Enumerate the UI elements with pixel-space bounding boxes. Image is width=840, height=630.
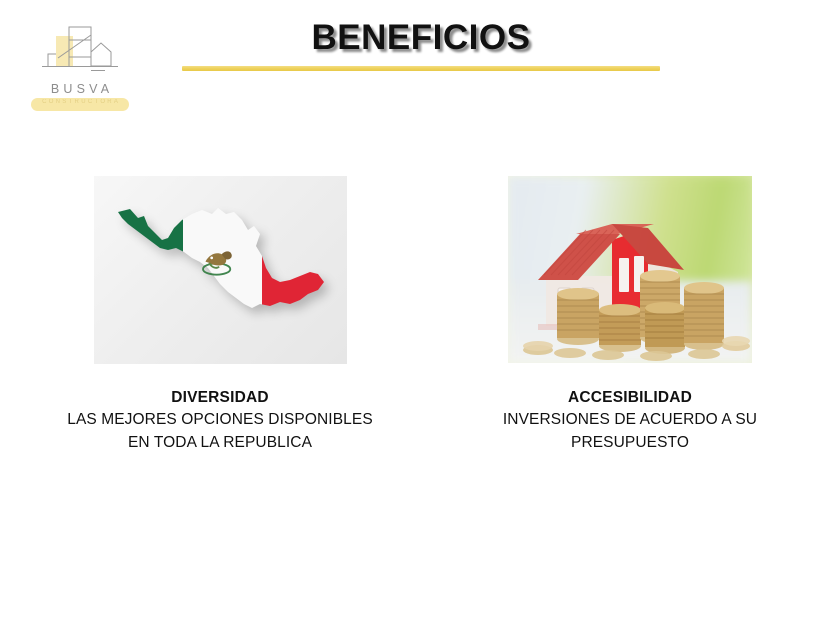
house-with-coin-stacks-photo	[508, 176, 752, 363]
caption-accesibilidad: ACCESIBILIDAD INVERSIONES DE ACUERDO A S…	[440, 387, 820, 454]
benefit-column-accesibilidad	[440, 176, 820, 363]
photo-subjects	[508, 176, 752, 363]
caption-body-line-1: INVERSIONES DE ACUERDO A SU	[440, 409, 820, 431]
brand-logo: BUSVA CONSTRUCTORA	[22, 24, 138, 119]
mexico-map-shape	[104, 196, 340, 346]
mexico-map-flag-photo	[94, 176, 347, 364]
caption-diversidad: DIVERSIDAD LAS MEJORES OPCIONES DISPONIB…	[8, 387, 432, 454]
slide-canvas: BUSVA CONSTRUCTORA BENEFICIOS	[0, 0, 840, 630]
logo-tagline: CONSTRUCTORA	[22, 99, 138, 105]
caption-body-line-2: PRESUPUESTO	[440, 432, 820, 454]
title-underline-rule	[182, 66, 660, 71]
logo-wordmark: BUSVA	[22, 82, 138, 96]
benefit-column-diversidad	[20, 176, 420, 364]
caption-body-line-1: LAS MEJORES OPCIONES DISPONIBLES	[8, 409, 432, 431]
caption-heading: DIVERSIDAD	[8, 387, 432, 409]
caption-body-line-2: EN TODA LA REPUBLICA	[8, 432, 432, 454]
caption-heading: ACCESIBILIDAD	[440, 387, 820, 409]
abstract-building-outline-icon	[34, 24, 126, 82]
page-title: BENEFICIOS	[182, 18, 660, 57]
